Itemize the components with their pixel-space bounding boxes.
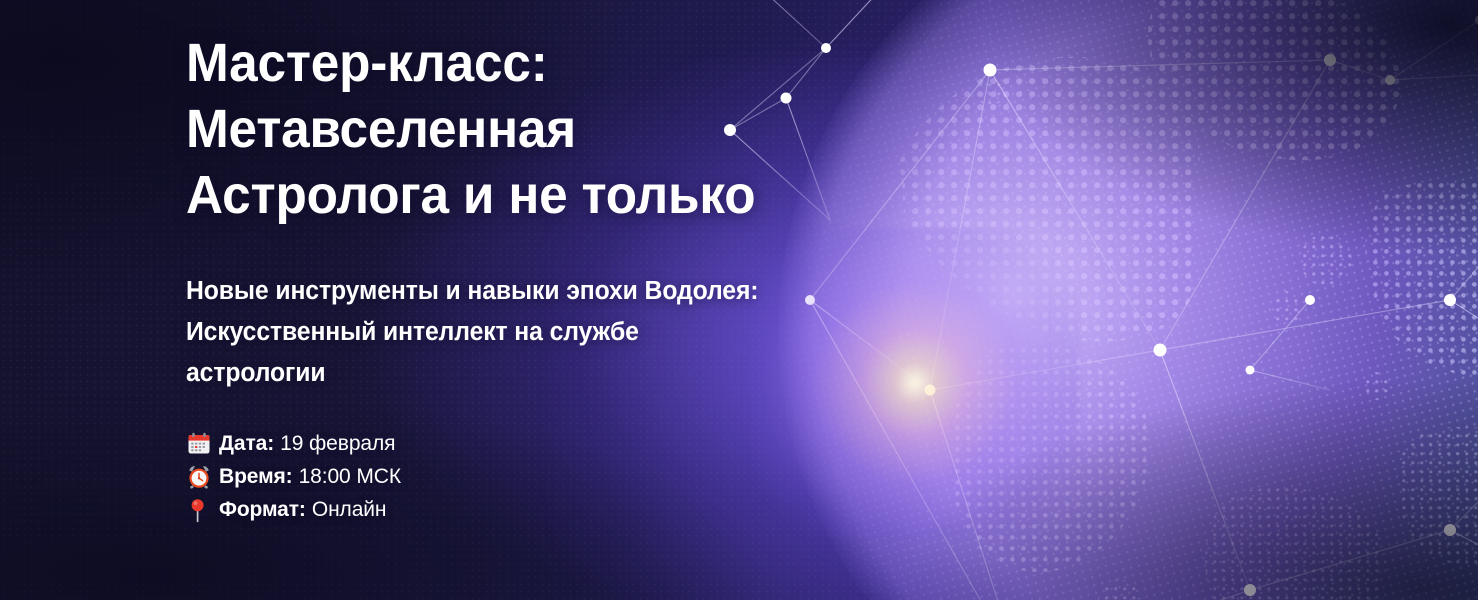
alarm-clock-icon [186, 464, 212, 490]
detail-label-date: Дата: [219, 428, 274, 460]
detail-value-time: 18:00 МСК [299, 461, 401, 493]
detail-value-date: 19 февраля [280, 428, 395, 460]
banner-content: Мастер-класс: Метавселенная Астролога и … [186, 0, 886, 600]
detail-row-time: Время: 18:00 МСК [186, 461, 706, 493]
detail-row-date: Дата: 19 февраля [186, 428, 706, 460]
event-details-list: Дата: 19 февраля [186, 428, 706, 527]
page-subtitle: Новые инструменты и навыки эпохи Водолея… [186, 271, 768, 394]
detail-value-format: Онлайн [312, 494, 387, 526]
pushpin-icon [186, 497, 212, 523]
detail-row-format: Формат: Онлайн [186, 494, 706, 526]
detail-label-time: Время: [219, 461, 293, 493]
detail-label-format: Формат: [219, 494, 306, 526]
page-title: Мастер-класс: Метавселенная Астролога и … [186, 30, 842, 228]
promo-banner: Мастер-класс: Метавселенная Астролога и … [0, 0, 1478, 600]
calendar-icon [186, 431, 212, 457]
